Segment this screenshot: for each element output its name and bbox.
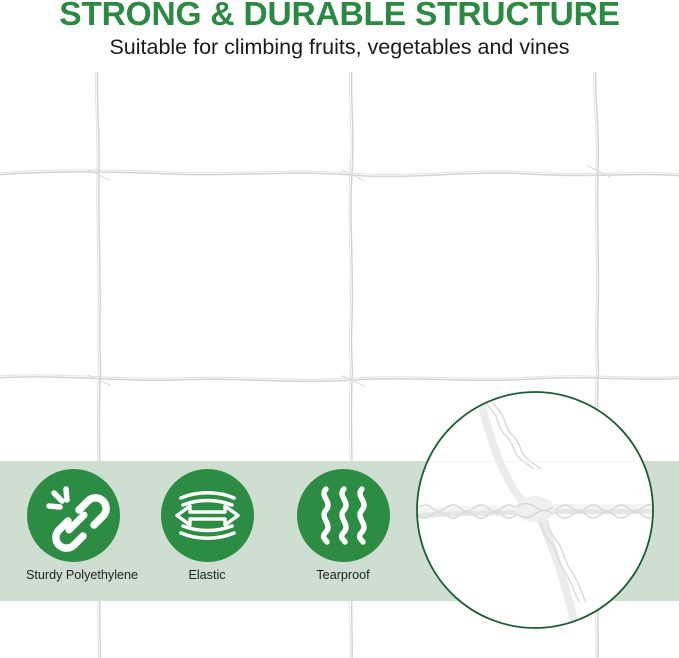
- chain-link-icon: [27, 469, 120, 562]
- badge-sturdy-polyethylene[interactable]: Sturdy Polyethylene: [26, 469, 120, 583]
- inset-circle-graphic: [414, 390, 658, 630]
- badge-label: Elastic: [160, 568, 254, 583]
- badge-tearproof[interactable]: Tearproof: [296, 469, 390, 583]
- wavy-lines-icon: [297, 469, 390, 562]
- product-feature-panel: Sturdy Polyethylene Elastic: [0, 0, 679, 658]
- horizontal-double-arrow-icon: [161, 469, 254, 562]
- magnified-net-inset: [414, 390, 658, 630]
- page-title: STRONG & DURABLE STRUCTURE: [0, 0, 679, 32]
- page-subtitle: Suitable for climbing fruits, vegetables…: [0, 35, 679, 59]
- badge-elastic[interactable]: Elastic: [160, 469, 254, 583]
- badge-circle: [161, 469, 254, 562]
- header: STRONG & DURABLE STRUCTURE Suitable for …: [0, 0, 679, 72]
- badge-circle: [297, 469, 390, 562]
- badge-label: Sturdy Polyethylene: [26, 568, 120, 583]
- badge-circle: [27, 469, 120, 562]
- badge-label: Tearproof: [296, 568, 390, 583]
